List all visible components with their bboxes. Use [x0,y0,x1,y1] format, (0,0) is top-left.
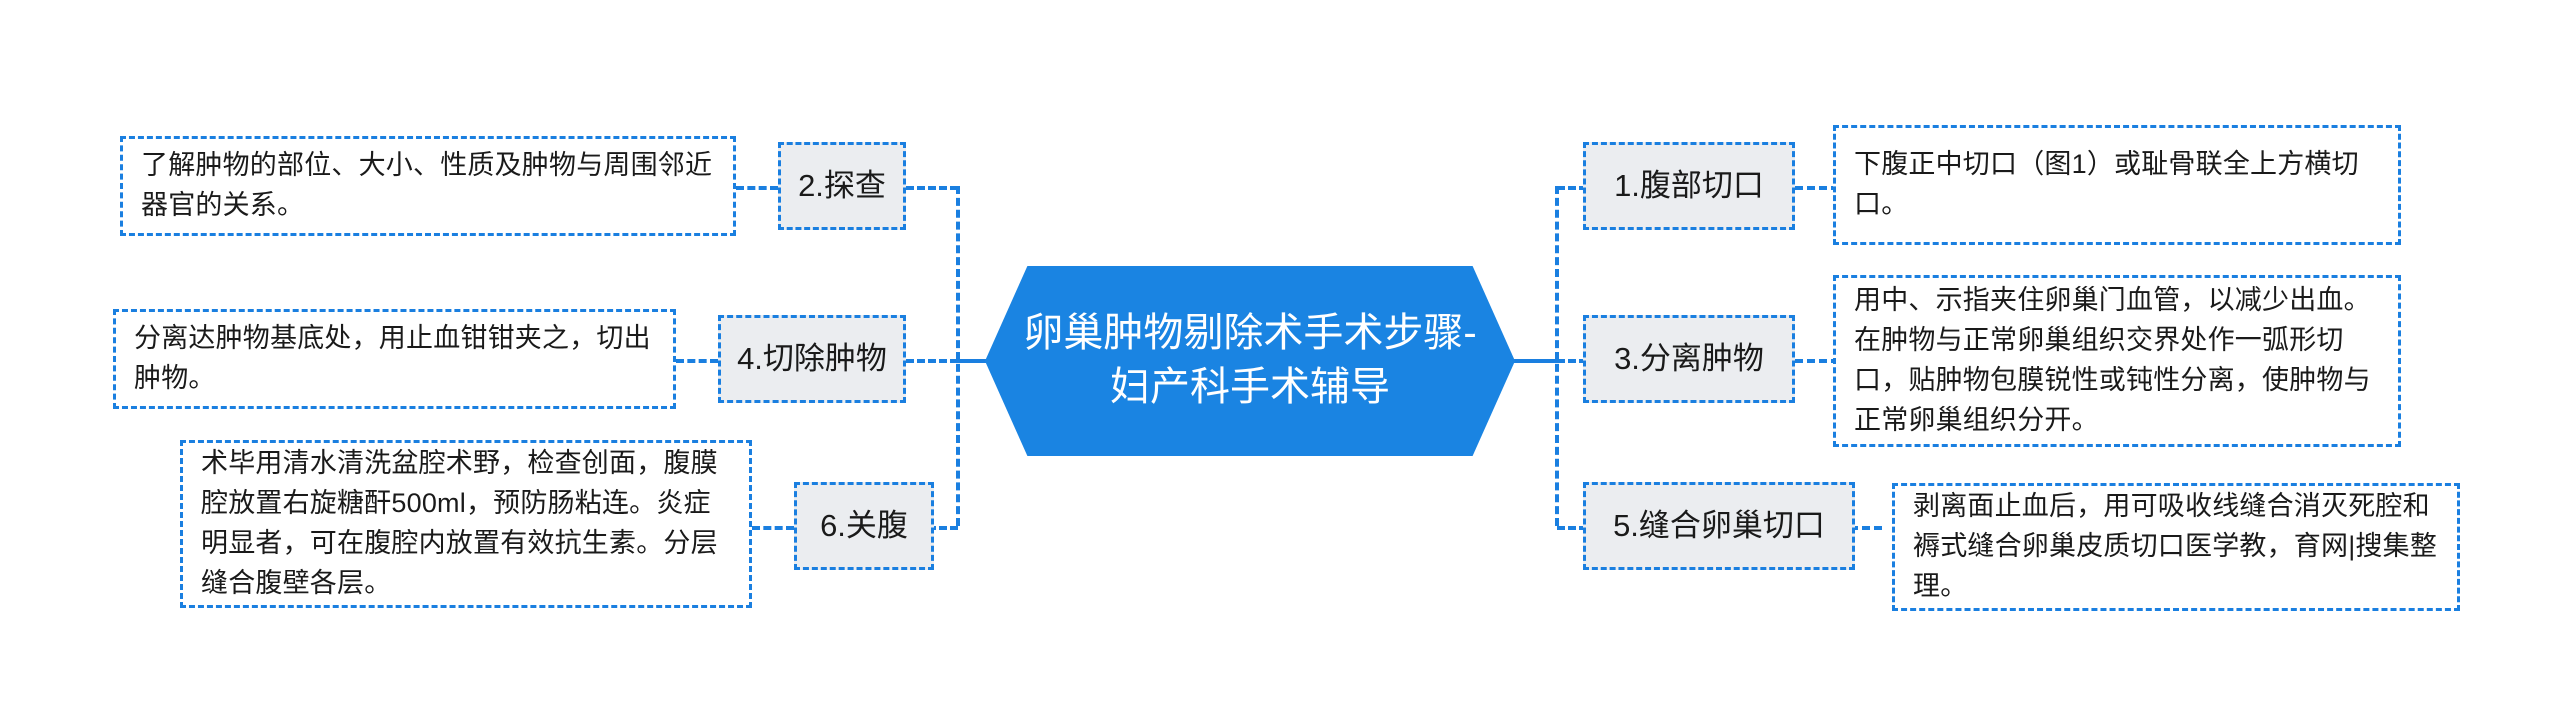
right-subnode-2-label: 3.分离肿物 [1614,340,1764,377]
left-leaf-detail-1[interactable]: 了解肿物的部位、大小、性质及肿物与周围邻近器官的关系。 [120,136,736,236]
left-connector-1 [906,186,958,190]
right-leaf-detail-1[interactable]: 下腹正中切口（图1）或耻骨联全上方横切口。 [1833,125,2401,245]
left-leaf-detail-2[interactable]: 分离达肿物基底处，用止血钳钳夹之，切出肿物。 [113,309,676,409]
left-leaf-detail-2-text: 分离达肿物基底处，用止血钳钳夹之，切出肿物。 [134,319,657,399]
left-leaf-connector-2 [676,359,718,363]
right-subnode-1-label: 1.腹部切口 [1614,167,1764,204]
right-trunk-line [1555,186,1559,526]
central-node-label: 卵巢肿物剔除术手术步骤-妇产科手术辅导 [985,307,1515,414]
right-subnode-3[interactable]: 5.缝合卵巢切口 [1583,482,1855,570]
left-leaf-connector-1 [736,186,778,190]
left-leaf-detail-3-text: 术毕用清水清洗盆腔术野，检查创面，腹膜腔放置右旋糖酐500ml，预防肠粘连。炎症… [201,444,733,604]
left-subnode-2-label: 4.切除肿物 [737,340,887,377]
right-leaf-detail-3[interactable]: 剥离面止血后，用可吸收线缝合消灭死腔和褥式缝合卵巢皮质切口医学教，育网|搜集整理… [1892,483,2460,611]
left-subnode-1[interactable]: 2.探查 [778,142,906,230]
right-leaf-detail-2[interactable]: 用中、示指夹住卵巢门血管，以减少出血。在肿物与正常卵巢组织交界处作一弧形切口，贴… [1833,275,2401,447]
left-leaf-connector-3 [752,526,794,530]
right-subnode-3-label: 5.缝合卵巢切口 [1613,507,1825,544]
right-subnode-2[interactable]: 3.分离肿物 [1583,315,1795,403]
left-subnode-3-label: 6.关腹 [820,507,908,544]
right-subnode-1[interactable]: 1.腹部切口 [1583,142,1795,230]
left-leaf-detail-3[interactable]: 术毕用清水清洗盆腔术野，检查创面，腹膜腔放置右旋糖酐500ml，预防肠粘连。炎症… [180,440,752,608]
left-trunk-line [956,186,960,526]
left-subnode-1-label: 2.探查 [798,167,886,204]
right-leaf-detail-3-text: 剥离面止血后，用可吸收线缝合消灭死腔和褥式缝合卵巢皮质切口医学教，育网|搜集整理… [1913,487,2441,607]
central-node[interactable]: 卵巢肿物剔除术手术步骤-妇产科手术辅导 [985,266,1515,456]
left-leaf-detail-1-text: 了解肿物的部位、大小、性质及肿物与周围邻近器官的关系。 [141,146,717,226]
left-connector-2 [906,359,958,363]
right-leaf-detail-2-text: 用中、示指夹住卵巢门血管，以减少出血。在肿物与正常卵巢组织交界处作一弧形切口，贴… [1854,281,2382,441]
right-leaf-detail-1-text: 下腹正中切口（图1）或耻骨联全上方横切口。 [1854,145,2382,225]
left-subnode-2[interactable]: 4.切除肿物 [718,315,906,403]
left-subnode-3[interactable]: 6.关腹 [794,482,934,570]
mindmap-canvas: 卵巢肿物剔除术手术步骤-妇产科手术辅导 了解肿物的部位、大小、性质及肿物与周围邻… [0,0,2560,722]
